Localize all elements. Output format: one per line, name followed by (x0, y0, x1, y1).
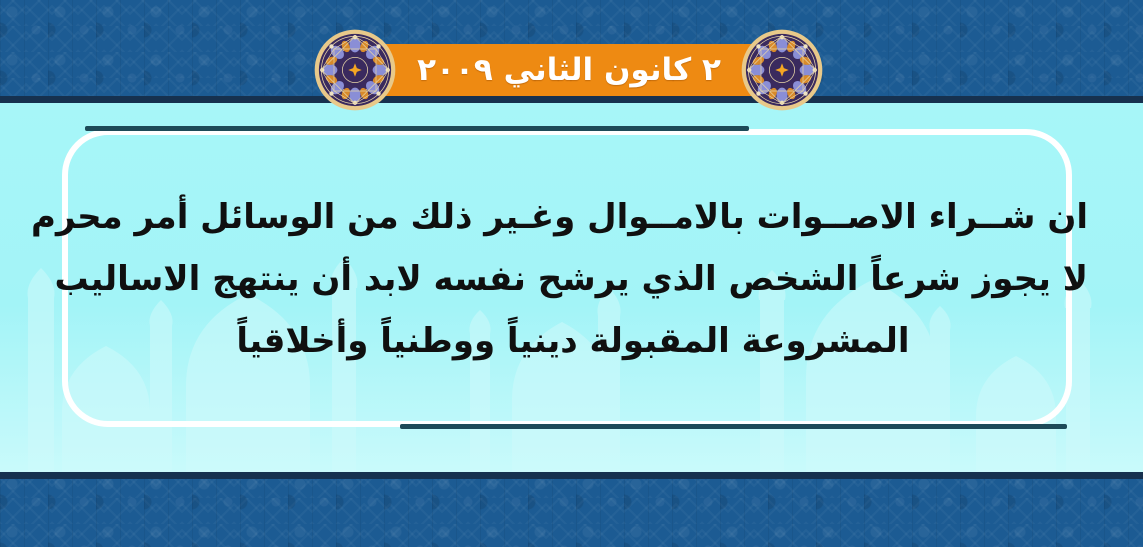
top-accent-rule (85, 126, 749, 131)
bottom-band-edge (0, 472, 1143, 479)
quote-line-2: لا يجوز شرعاً الشخص الذي يرشح نفسه لابد … (58, 248, 1088, 310)
bottom-decorative-band (0, 472, 1143, 547)
mandala-ornament-left-icon (313, 28, 397, 112)
bottom-accent-rule (400, 424, 1067, 429)
quote-line-1: ان شــراء الاصــوات بالامــوال وغـير ذلك… (58, 186, 1088, 248)
quote-text-block: ان شــراء الاصــوات بالامــوال وغـير ذلك… (58, 186, 1088, 372)
top-band-edge (0, 96, 1143, 103)
date-label: ٢ كانون الثاني ٢٠٠٩ (342, 44, 796, 96)
poster-slide: ان شــراء الاصــوات بالامــوال وغـير ذلك… (0, 0, 1143, 547)
mandala-ornament-right-icon (740, 28, 824, 112)
quote-line-3: المشروعة المقبولة دينياً ووطنياً وأخلاقي… (58, 310, 1088, 372)
